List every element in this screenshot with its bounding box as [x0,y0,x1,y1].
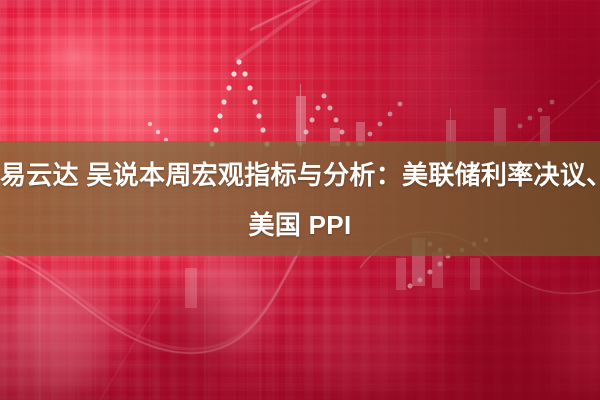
dotted-zigzag-peak-1 [209,59,269,146]
banner-title: 易云达 吴说本周宏观指标与分析：美联储利率决议、 美国 PPI [0,150,600,250]
bottom-left-diagonal [100,300,160,400]
dotted-zigzag-peak-2 [298,94,351,147]
rising-diagonal-line-2 [236,0,326,60]
lower-grid-lines [40,260,260,400]
rising-diagonal-line [250,0,330,30]
dotted-rising-series [358,102,403,147]
dotted-left-trail [148,122,168,142]
bottom-right-diagonal [520,80,600,150]
banner-image: 易云达 吴说本周宏观指标与分析：美联储利率决议、 美国 PPI [0,0,600,400]
banner-title-line-1: 易云达 吴说本周宏观指标与分析：美联储利率决议、 [0,150,600,200]
banner-title-line-2: 美国 PPI [0,200,600,250]
valley-curve-shadow [0,244,302,349]
